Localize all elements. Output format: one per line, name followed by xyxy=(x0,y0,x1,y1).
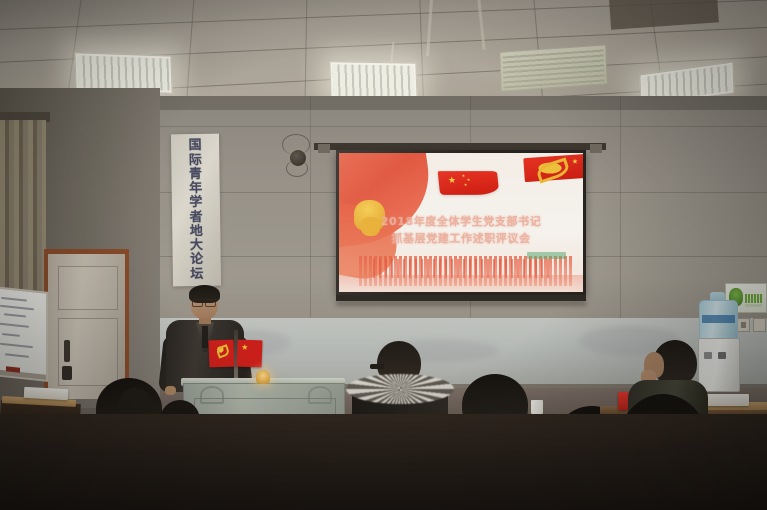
screen-bracket-right xyxy=(590,144,602,153)
banner-char-9: 坛 xyxy=(190,267,203,280)
banner-char-6: 地 xyxy=(190,225,203,238)
banner-characters: 国 际 青 年 学 者 地 大 论 坛 xyxy=(171,134,221,287)
banner-char-7: 大 xyxy=(190,239,203,252)
meeting-room-photo: 国 际 青 年 学 者 地 大 论 坛 ★ ★ ★ xyxy=(0,0,767,510)
screen-frame: ★ ★ ★ ★ ★ 2018年度全体学生党支部书记 抓基层党建工作述职评议会 xyxy=(336,150,586,295)
power-outlet-single[interactable] xyxy=(753,318,766,332)
slide-national-flag: ★ ★ ★ ★ xyxy=(438,171,499,194)
glasses-temple-icon xyxy=(370,364,384,369)
screen-bracket-left xyxy=(318,144,330,153)
party-desk-flag xyxy=(209,340,235,368)
party-flag-star: ★ xyxy=(572,158,579,165)
slide-title: 2018年度全体学生党支部书记 抓基层党建工作述职评议会 xyxy=(339,214,583,247)
door-lock-icon xyxy=(62,366,72,380)
desk-paper-cooler-side xyxy=(703,394,749,406)
cable-loop-lower xyxy=(286,160,308,177)
podium-emblem-right xyxy=(308,386,332,404)
floor-shadow xyxy=(0,414,767,510)
slide-title-line-2: 抓基层党建工作述职评议会 xyxy=(339,231,583,248)
fur-collar xyxy=(346,374,454,404)
cooler-tap-hot[interactable] xyxy=(704,352,712,359)
vertical-calligraphy-banner: 国 际 青 年 学 者 地 大 论 坛 xyxy=(171,134,221,287)
banner-char-1: 际 xyxy=(189,153,202,166)
presentation-slide: ★ ★ ★ ★ ★ 2018年度全体学生党支部书记 抓基层党建工作述职评议会 xyxy=(339,153,583,292)
desk-paper-left xyxy=(24,387,69,400)
flag-star-small-2: ★ xyxy=(467,178,471,182)
water-cooler[interactable] xyxy=(698,338,740,392)
banner-char-3: 年 xyxy=(189,182,202,195)
party-hammer-sickle-icon xyxy=(215,345,226,355)
banner-char-0: 国 xyxy=(188,139,201,152)
glasses-icon xyxy=(192,299,216,305)
cooler-tap-cold[interactable] xyxy=(718,352,726,359)
hammer-sickle-icon xyxy=(529,160,570,178)
sign-caption-bar xyxy=(745,304,762,307)
slide-wave-base xyxy=(339,275,583,292)
banner-char-5: 者 xyxy=(189,210,202,223)
flag-star-small-3: ★ xyxy=(464,183,468,187)
presenter-hand-left xyxy=(165,386,176,395)
cable-loop xyxy=(282,134,310,155)
banner-char-2: 青 xyxy=(189,168,202,181)
podium-emblem-left xyxy=(200,386,224,404)
slide-green-tag xyxy=(527,252,566,259)
flag-star-large: ★ xyxy=(448,176,457,185)
screen-drop-shadow xyxy=(336,301,586,306)
podium-lamp[interactable] xyxy=(256,370,270,384)
screen-housing xyxy=(314,143,606,150)
desk-flag-star: ★ xyxy=(241,344,248,352)
ceiling-light-2 xyxy=(329,61,417,101)
ceiling-vent xyxy=(609,0,719,30)
slide-title-line-1: 2018年度全体学生党支部书记 xyxy=(339,214,583,231)
national-desk-flag: ★ xyxy=(237,340,263,368)
flag-star-small-1: ★ xyxy=(461,174,465,178)
banner-char-4: 学 xyxy=(189,196,202,209)
door-frame xyxy=(44,249,129,399)
room-door[interactable] xyxy=(48,254,125,399)
sign-text-bars xyxy=(745,294,763,303)
projection-screen: ★ ★ ★ ★ ★ 2018年度全体学生党支部书记 抓基层党建工作述职评议会 xyxy=(314,143,606,320)
door-handle[interactable] xyxy=(64,340,70,362)
banner-char-8: 论 xyxy=(190,253,203,266)
ceiling-light-3-dimmed xyxy=(499,44,607,91)
